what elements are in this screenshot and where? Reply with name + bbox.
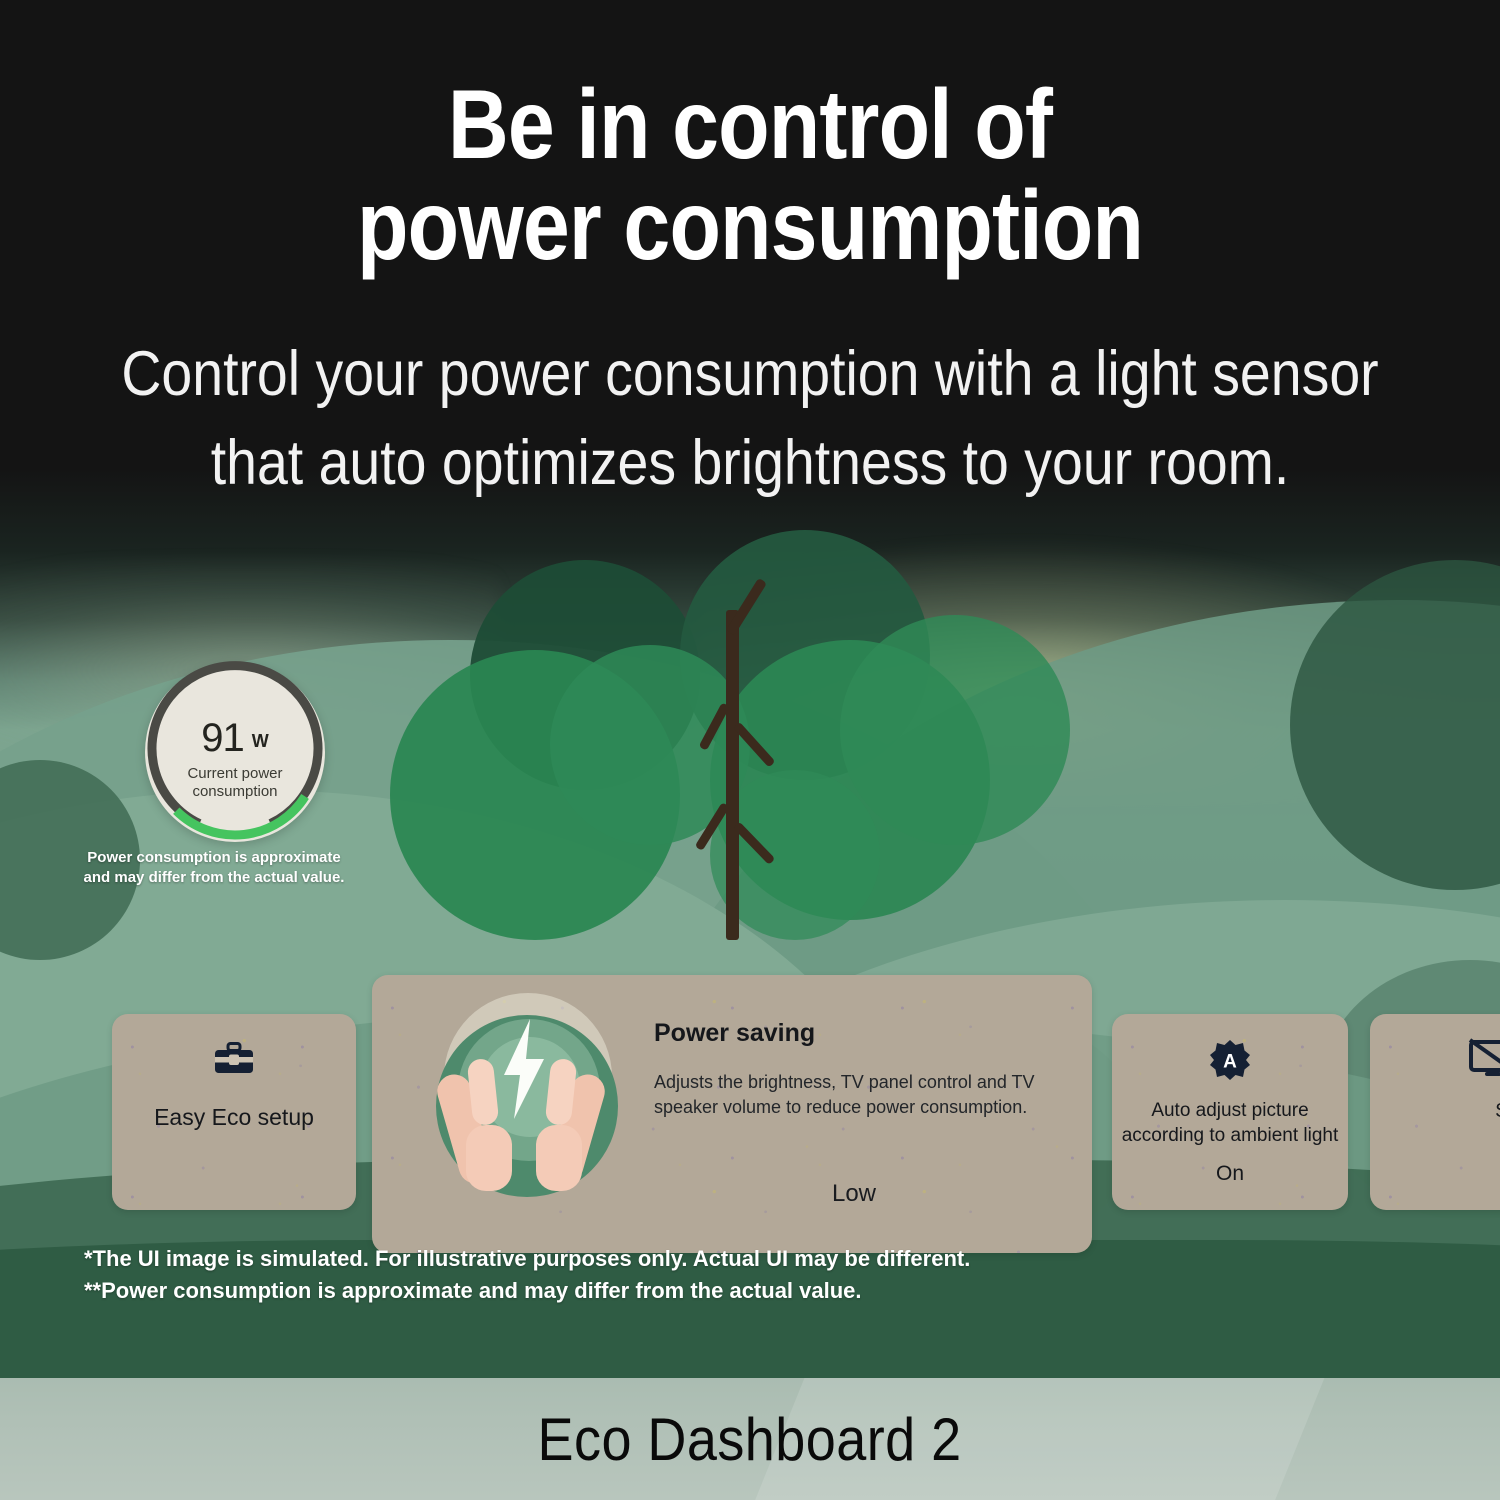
headline-line-2: power consumption xyxy=(105,175,1395,276)
gauge-readout: 91W Current power consumption xyxy=(139,718,331,802)
card-label: Auto adjust picture according to ambient… xyxy=(1112,1098,1348,1148)
card-label: Shut-off watch xyxy=(1412,1098,1500,1152)
lightning-bolt-icon xyxy=(494,1017,552,1121)
card-shut-off-timer[interactable]: Shut-off watch xyxy=(1370,1014,1500,1210)
auto-brightness-icon: A xyxy=(1112,1040,1348,1085)
gauge-value: 91 xyxy=(201,716,244,760)
disclaimer-line-2: **Power consumption is approximate and m… xyxy=(84,1275,1204,1307)
card-power-saving[interactable]: Power saving Adjusts the brightness, TV … xyxy=(372,975,1092,1253)
gauge-note-line-1: Power consumption is approximate xyxy=(34,848,394,868)
card-value: On xyxy=(1112,1162,1348,1186)
card-label: Easy Eco setup xyxy=(112,1104,356,1131)
footer-bar: Eco Dashboard 2 xyxy=(0,1378,1500,1500)
headline-line-1: Be in control of xyxy=(105,74,1395,175)
palm-left xyxy=(466,1125,512,1191)
card-description: Adjusts the brightness, TV panel control… xyxy=(654,1070,1054,1120)
gauge-caption: Current power consumption xyxy=(139,765,331,802)
promo-banner: Be in control of power consumption Contr… xyxy=(0,0,1500,1500)
card-label-line-2: watch xyxy=(1412,1125,1500,1152)
card-title: Power saving xyxy=(654,1019,815,1048)
card-label-line-1: Auto adjust picture xyxy=(1112,1098,1348,1123)
palm-right xyxy=(536,1125,582,1191)
gauge-fill xyxy=(176,796,305,835)
tree-illustration xyxy=(430,520,1050,950)
gauge-caption-line-1: Current power xyxy=(139,765,331,783)
tree-trunk xyxy=(726,610,739,940)
power-gauge: 91W Current power consumption xyxy=(139,656,331,848)
gauge-caption-line-2: consumption xyxy=(139,783,331,801)
gauge-note: Power consumption is approximate and may… xyxy=(34,848,394,888)
subline-line-1: Control your power consumption with a li… xyxy=(90,330,1410,419)
tree-foliage xyxy=(840,615,1070,845)
toolbox-icon xyxy=(112,1042,356,1081)
svg-text:A: A xyxy=(1223,1052,1237,1073)
subline-line-2: that auto optimizes brightness to your r… xyxy=(90,419,1410,508)
footer-title: Eco Dashboard 2 xyxy=(538,1405,962,1474)
gauge-value-row: 91W xyxy=(139,718,331,758)
card-auto-adjust-picture[interactable]: A Auto adjust picture according to ambie… xyxy=(1112,1014,1348,1210)
gauge-unit: W xyxy=(252,731,269,751)
hero-subline: Control your power consumption with a li… xyxy=(90,330,1410,509)
card-value: Low xyxy=(654,1180,1054,1208)
tv-off-icon xyxy=(1468,1038,1500,1085)
gauge-note-line-2: and may differ from the actual value. xyxy=(34,868,394,888)
card-label-line-2: according to ambient light xyxy=(1112,1123,1348,1148)
hands-energy-illustration xyxy=(432,997,622,1187)
hero-headline: Be in control of power consumption xyxy=(105,74,1395,276)
card-label-line-1: Shut-off xyxy=(1412,1098,1500,1125)
card-easy-eco-setup[interactable]: Easy Eco setup xyxy=(112,1014,356,1210)
